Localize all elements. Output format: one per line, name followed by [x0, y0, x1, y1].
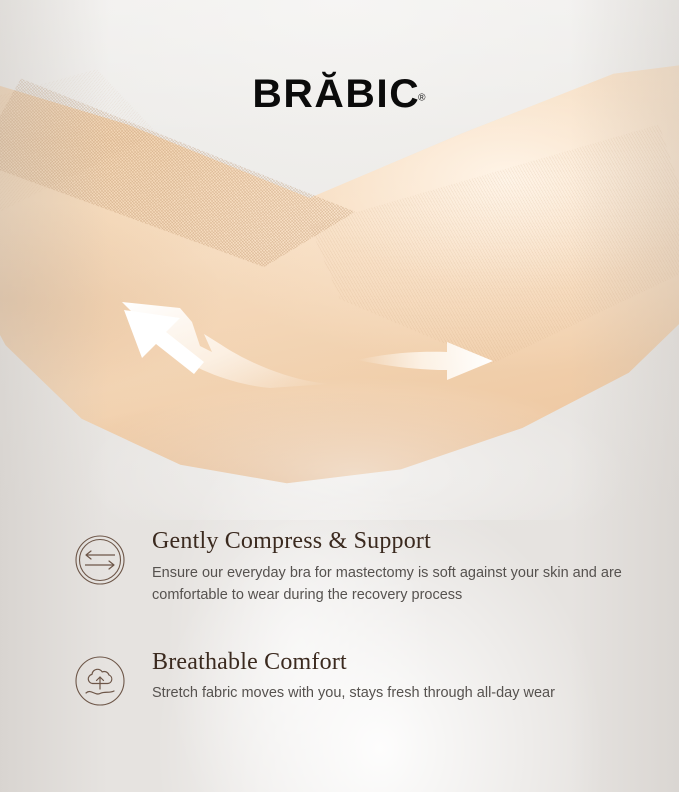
brand-logo: BRĂBIC® [0, 74, 679, 114]
brand-logo-text: BRĂBIC [252, 74, 420, 114]
feature-text-block: Gently Compress & Support Ensure our eve… [152, 528, 624, 607]
feature-item-compress-support: Gently Compress & Support Ensure our eve… [0, 528, 679, 607]
feature-item-breathable-comfort: Breathable Comfort Stretch fabric moves … [0, 649, 679, 705]
breathable-cloud-icon [74, 655, 126, 707]
stretch-arrow-left-icon [108, 300, 338, 390]
product-feature-image: BRĂBIC® Gently Compress & Support Ensure… [0, 0, 679, 792]
feature-list: Gently Compress & Support Ensure our eve… [0, 528, 679, 747]
feature-title: Gently Compress & Support [152, 528, 624, 556]
feature-description: Ensure our everyday bra for mastectomy i… [152, 562, 624, 607]
stretch-arrow-right-icon [355, 330, 505, 392]
two-way-stretch-icon [74, 534, 126, 586]
feature-title: Breathable Comfort [152, 649, 555, 677]
feature-text-block: Breathable Comfort Stretch fabric moves … [152, 649, 555, 705]
feature-description: Stretch fabric moves with you, stays fre… [152, 682, 555, 704]
